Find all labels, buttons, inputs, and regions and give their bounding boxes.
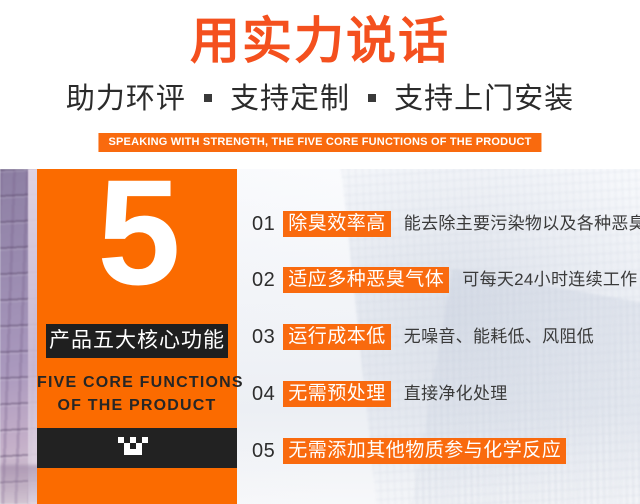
- feature-number: 02: [252, 267, 275, 293]
- list-item: 01 除臭效率高 能去除主要污染物以及各种恶臭味: [252, 211, 640, 237]
- subtitle-part-2: 支持定制: [230, 83, 350, 115]
- feature-description: 可每天24小时连续工作: [462, 267, 637, 293]
- feature-number: 03: [252, 324, 275, 350]
- panel-english-label-line1: FIVE CORE FUNCTIONS: [37, 372, 237, 394]
- subtitle: 助力环评 支持定制 支持上门安装: [0, 80, 640, 118]
- feature-tag: 运行成本低: [283, 324, 391, 350]
- feature-tag: 无需添加其他物质参与化学反应: [283, 438, 566, 464]
- chevron-down-checkered-icon: [118, 437, 156, 459]
- big-number-five: 5: [37, 169, 237, 317]
- feature-list: 01 除臭效率高 能去除主要污染物以及各种恶臭味 02 适应多种恶臭气体 可每天…: [252, 169, 640, 504]
- feature-description: 无噪音、能耗低、风阻低: [404, 324, 594, 350]
- feature-description: 能去除主要污染物以及各种恶臭味: [404, 211, 640, 237]
- list-item: 02 适应多种恶臭气体 可每天24小时连续工作: [252, 267, 637, 293]
- list-item: 04 无需预处理 直接净化处理: [252, 381, 508, 407]
- feature-tag: 适应多种恶臭气体: [283, 267, 449, 293]
- feature-description: 直接净化处理: [404, 381, 508, 407]
- five-functions-panel: 5 产品五大核心功能 FIVE CORE FUNCTIONS OF THE PR…: [37, 169, 237, 504]
- background-left-building-shadow: [0, 465, 40, 504]
- english-tagline-bar: SPEAKING WITH STRENGTH, THE FIVE CORE FU…: [98, 133, 541, 152]
- feature-tag: 无需预处理: [283, 381, 391, 407]
- list-item: 05 无需添加其他物质参与化学反应: [252, 438, 566, 464]
- feature-number: 04: [252, 381, 275, 407]
- feature-number: 01: [252, 211, 275, 237]
- content-section: 5 产品五大核心功能 FIVE CORE FUNCTIONS OF THE PR…: [0, 169, 640, 504]
- panel-chinese-label: 产品五大核心功能: [46, 324, 228, 358]
- subtitle-part-1: 助力环评: [66, 83, 186, 115]
- page-title: 用实力说话: [0, 12, 640, 70]
- panel-english-label-line2: OF THE PRODUCT: [37, 395, 237, 417]
- feature-number: 05: [252, 438, 275, 464]
- subtitle-separator-icon: [204, 94, 212, 102]
- promo-banner: 用实力说话 助力环评 支持定制 支持上门安装 SPEAKING WITH STR…: [0, 0, 640, 504]
- subtitle-separator-icon: [368, 94, 376, 102]
- feature-tag: 除臭效率高: [283, 211, 391, 237]
- subtitle-part-3: 支持上门安装: [394, 83, 574, 115]
- list-item: 03 运行成本低 无噪音、能耗低、风阻低: [252, 324, 594, 350]
- header-section: 用实力说话 助力环评 支持定制 支持上门安装 SPEAKING WITH STR…: [0, 0, 640, 169]
